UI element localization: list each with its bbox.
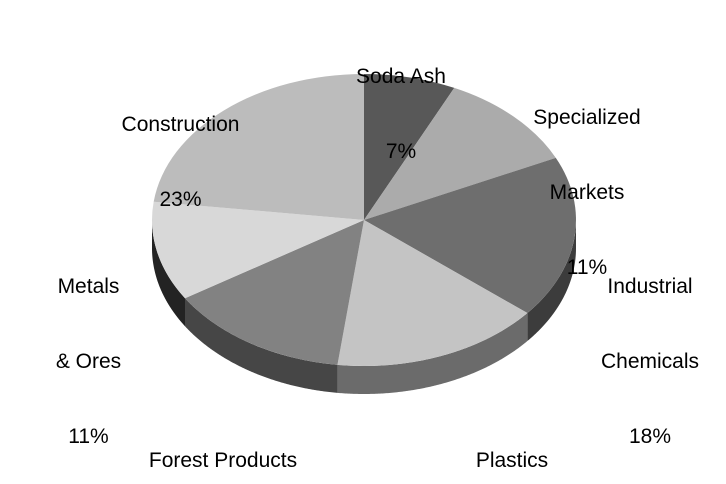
slice-label-construction-value: 23% [73,187,288,212]
slice-label-specialized-markets-name-line1: Specialized [487,105,687,130]
slice-label-construction: Construction 23% [73,62,288,262]
slice-label-metals-ores-name-line2: & Ores [16,349,161,374]
pie-chart-canvas: Soda Ash 7% Specialized Markets 11% Indu… [0,0,726,484]
slice-label-specialized-markets-name-line2: Markets [487,180,687,205]
slice-label-construction-name: Construction [73,112,288,137]
slice-label-metals-ores-name-line1: Metals [16,274,161,299]
slice-label-soda-ash: Soda Ash 7% [311,14,491,214]
slice-label-industrial-chemicals: Industrial Chemicals 18% [575,224,725,484]
slice-label-industrial-chemicals-name-line1: Industrial [575,274,725,299]
slice-label-industrial-chemicals-name-line2: Chemicals [575,349,725,374]
slice-label-plastics: Plastics 16% [432,398,592,484]
slice-label-soda-ash-value: 7% [311,139,491,164]
slice-label-metals-ores-value: 11% [16,424,161,449]
slice-label-soda-ash-name: Soda Ash [311,64,491,89]
slice-label-metals-ores: Metals & Ores 11% [16,224,161,484]
slice-label-plastics-name: Plastics [432,448,592,473]
slice-label-industrial-chemicals-value: 18% [575,424,725,449]
